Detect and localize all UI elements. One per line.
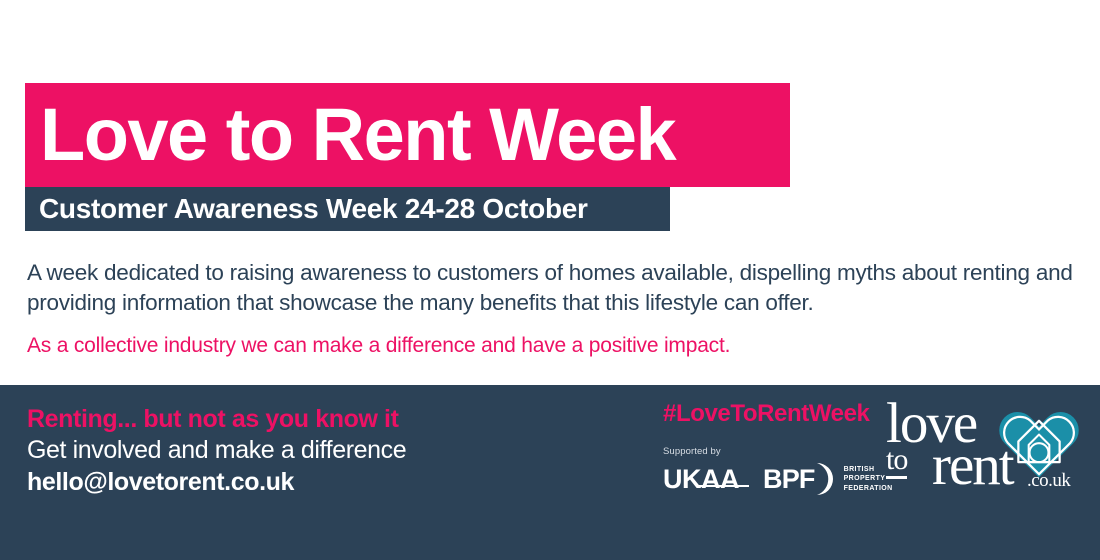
supported-by-label: Supported by [663,446,878,457]
body-paragraph: A week dedicated to raising awareness to… [27,258,1082,318]
subtitle-block: Customer Awareness Week 24-28 October [25,187,670,231]
page-title: Love to Rent Week [25,98,675,172]
bpf-logo: BPF BRITISH PROPERTY FEDERATION [763,460,893,498]
brand-logo[interactable]: love to rent .co.uk [884,393,1084,501]
heart-house-icon [996,395,1082,481]
body-accent-line: As a collective industry we can make a d… [27,332,1082,360]
page-subtitle: Customer Awareness Week 24-28 October [25,195,588,223]
contact-block: Renting... but not as you know it Get in… [27,404,406,498]
title-block: Love to Rent Week [25,83,790,187]
contact-subline: Get involved and make a difference [27,434,406,466]
body-copy: A week dedicated to raising awareness to… [27,258,1082,360]
brand-word-to: to [886,445,907,479]
hashtag: #LoveToRentWeek [663,399,878,429]
love-to-rent-week-banner: Love to Rent Week Customer Awareness Wee… [0,0,1100,560]
ukaa-logo: UKAA [663,466,749,493]
bpf-arc-icon [813,460,839,498]
bpf-wordmark: BPF [763,466,815,493]
supporter-logos: UKAA BPF BRITISH PROPERTY FEDERATION [663,460,878,498]
contact-email[interactable]: hello@lovetorent.co.uk [27,466,406,498]
contact-headline: Renting... but not as you know it [27,404,406,434]
footer: Renting... but not as you know it Get in… [0,385,1100,560]
hashtag-and-supporters: #LoveToRentWeek Supported by UKAA BPF BR… [663,399,878,498]
